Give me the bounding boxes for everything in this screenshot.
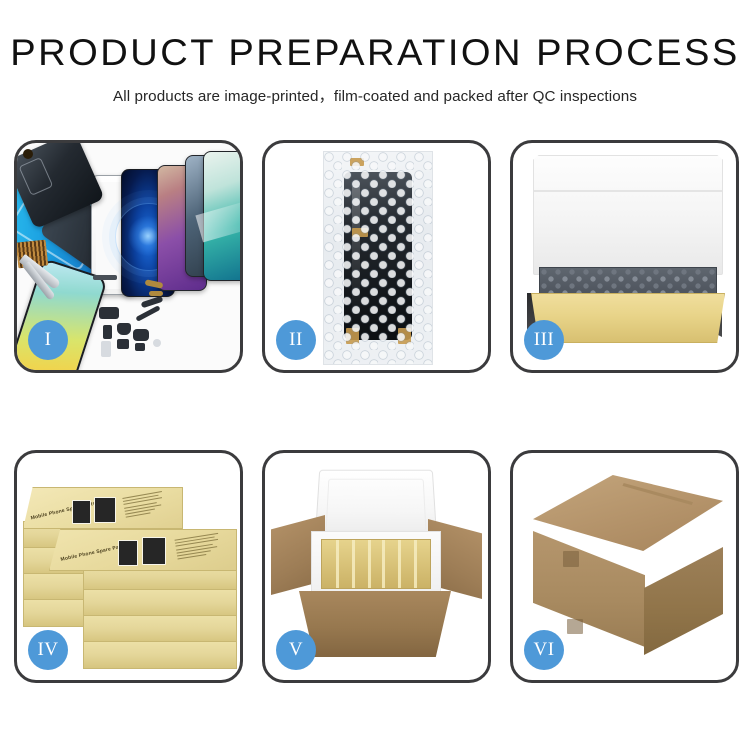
small-part — [133, 329, 149, 341]
steps-grid: I II — [14, 140, 736, 683]
tape-seal — [567, 619, 583, 634]
spec-lines — [122, 490, 169, 520]
step-badge-3: III — [524, 320, 564, 360]
product-preparation-infographic: PRODUCT PREPARATION PROCESS All products… — [0, 0, 750, 750]
box-label-text: Mobile Phone Spare Parts — [60, 543, 126, 563]
page-subtitle: All products are image-printed，film-coat… — [0, 84, 750, 106]
packed-kraft-boxes — [321, 539, 431, 589]
step-panel-5: V — [262, 450, 491, 683]
step-badge-2: II — [276, 320, 316, 360]
small-part — [93, 275, 117, 280]
small-part — [153, 339, 161, 347]
small-part — [135, 343, 145, 351]
printed-box-lid: Mobile Phone Spare Parts — [49, 529, 237, 571]
step-panel-3: III — [510, 140, 739, 373]
tape-seal — [563, 551, 579, 567]
stacked-box — [83, 641, 237, 669]
stacked-box — [83, 589, 237, 617]
flex-cable — [135, 305, 160, 322]
step-badge-5: V — [276, 630, 316, 670]
stacked-box — [83, 615, 237, 643]
small-part — [101, 341, 111, 357]
small-part — [103, 325, 112, 339]
flex-cable — [141, 296, 164, 309]
screen-image — [142, 537, 166, 565]
step-panel-2: II — [262, 140, 491, 373]
bubble-wrap-package — [323, 151, 433, 365]
spec-lines — [175, 533, 224, 562]
printed-box-lid: Mobile Phone Spare Parts — [23, 487, 183, 529]
page-title: PRODUCT PREPARATION PROCESS — [0, 34, 750, 71]
step-panel-1: I — [14, 140, 243, 373]
white-foam-lid — [533, 155, 723, 275]
carton-body — [299, 591, 451, 657]
step-badge-6: VI — [524, 630, 564, 670]
small-part — [117, 323, 131, 335]
header: PRODUCT PREPARATION PROCESS All products… — [0, 0, 750, 106]
screen-image — [72, 500, 91, 524]
small-part — [99, 307, 119, 319]
small-part — [149, 291, 163, 296]
small-part — [117, 339, 129, 349]
screen-image — [118, 540, 138, 566]
step-badge-4: IV — [28, 630, 68, 670]
screen-image — [94, 497, 116, 523]
carton-side-face — [644, 547, 723, 655]
step-badge-1: I — [28, 320, 68, 360]
teal-phone — [203, 151, 240, 281]
bubble-texture-highlight — [324, 152, 432, 364]
step-panel-6: VI — [510, 450, 739, 683]
step-panel-4: Mobile Phone Spare Parts Mobile Phone Sp… — [14, 450, 243, 683]
carton-front-face — [533, 531, 645, 647]
